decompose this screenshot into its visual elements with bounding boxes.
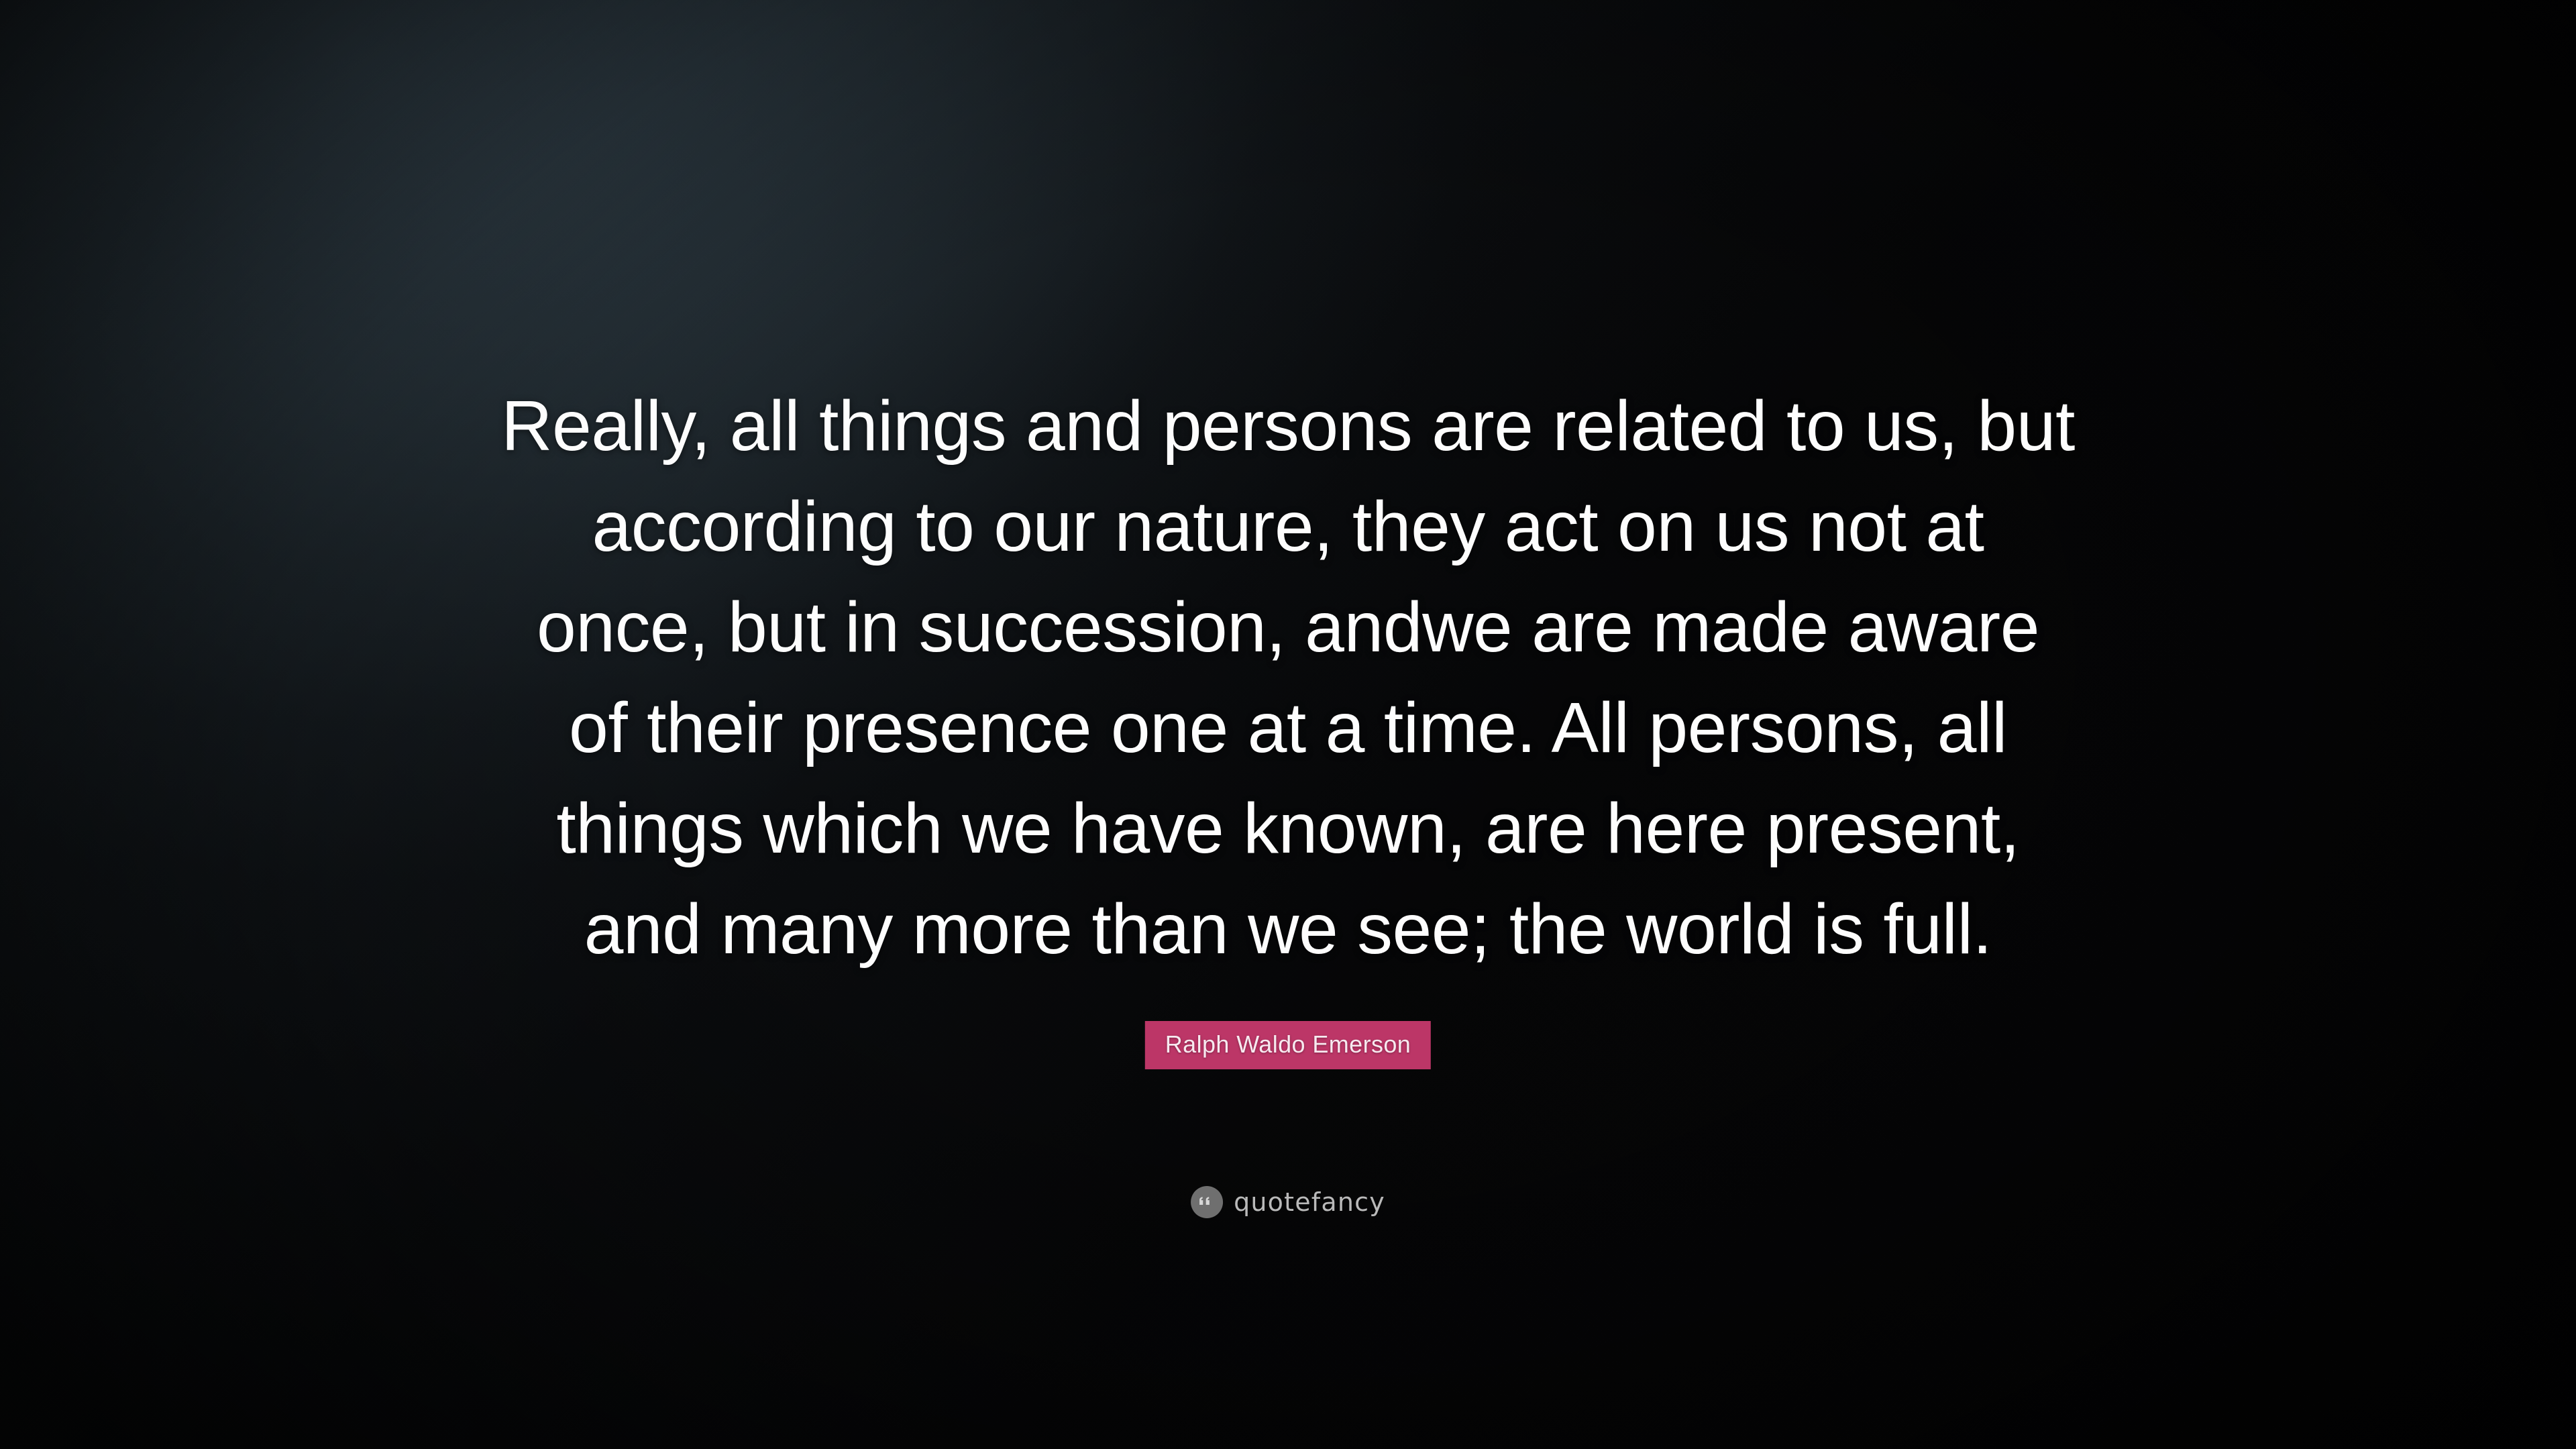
attribution-area: Ralph Waldo Emerson [1145,1021,1431,1069]
quote-line: once, but in succession, andwe are made … [409,577,2167,678]
quote-wallpaper: Really, all things and persons are relat… [0,0,2576,1449]
quotefancy-wordmark: quotefancy [1234,1189,1385,1215]
quote-line: and many more than we see; the world is … [409,879,2167,979]
quote-line: Really, all things and persons are relat… [409,376,2167,476]
quote-text-block: Really, all things and persons are relat… [409,376,2167,979]
author-attribution-badge[interactable]: Ralph Waldo Emerson [1145,1021,1431,1069]
quote-marks-icon [1191,1186,1223,1218]
quote-line: according to our nature, they act on us … [409,476,2167,577]
wallpaper-content: Really, all things and persons are relat… [0,0,2576,1449]
quote-line: of their presence one at a time. All per… [409,678,2167,778]
quotefancy-brand[interactable]: quotefancy [1191,1186,1385,1218]
quote-line: things which we have known, are here pre… [409,778,2167,879]
